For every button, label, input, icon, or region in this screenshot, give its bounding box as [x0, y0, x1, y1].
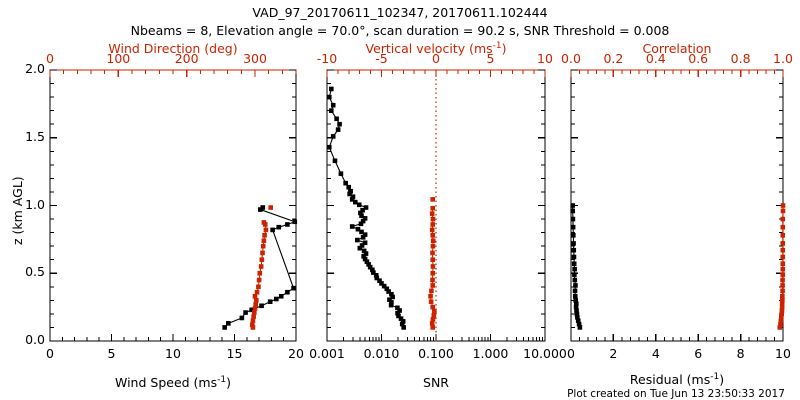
axis-tick-label: 0.2 — [603, 53, 623, 66]
series-marker — [431, 325, 435, 329]
axis-tick-label: 5 — [108, 348, 116, 361]
series-marker — [781, 209, 785, 213]
axis-tick-label: 15 — [227, 348, 243, 361]
series-marker — [336, 128, 340, 132]
series-marker — [430, 212, 434, 216]
axis-tick-label: 4 — [652, 348, 660, 361]
series-marker — [781, 262, 785, 266]
axis-tick-label: 0.4 — [646, 53, 666, 66]
axis-tick-label: 0.100 — [418, 348, 454, 361]
series-marker — [573, 267, 577, 271]
series-marker — [431, 197, 435, 201]
series-marker — [329, 109, 333, 113]
series-marker — [339, 172, 343, 176]
series-marker — [271, 228, 275, 232]
series-marker — [251, 319, 255, 323]
series-marker — [356, 227, 360, 231]
series-marker — [262, 239, 266, 243]
series-marker — [279, 294, 283, 298]
series-marker — [258, 271, 262, 275]
series-marker — [573, 294, 577, 298]
axis-tick-label: 1.0 — [773, 53, 793, 66]
series-marker — [781, 217, 785, 221]
series-marker — [573, 278, 577, 282]
series-marker — [331, 134, 335, 138]
series-marker — [781, 233, 785, 237]
series-marker — [244, 311, 248, 315]
series-marker — [572, 248, 576, 252]
series-marker — [226, 321, 230, 325]
series-marker — [327, 145, 331, 149]
axis-tick-label: 0.0 — [25, 334, 45, 347]
series-marker — [781, 241, 785, 245]
series-marker — [431, 239, 435, 243]
axis-tick-label: 2 — [609, 348, 617, 361]
axis-tick-label: 0.001 — [309, 348, 345, 361]
axis-tick-label: 200 — [175, 53, 199, 66]
axis-tick-label: 0 — [567, 348, 575, 361]
series-marker — [259, 264, 263, 268]
axis-tick-label: 0.8 — [731, 53, 751, 66]
series-marker — [331, 103, 335, 107]
series-marker — [357, 203, 361, 207]
series-marker — [431, 278, 435, 282]
axis-tick-label: -10 — [317, 53, 337, 66]
series-marker — [240, 316, 244, 320]
series-marker — [571, 217, 575, 221]
series-marker — [430, 228, 434, 232]
series-marker — [252, 311, 256, 315]
series-marker — [338, 122, 342, 126]
series-marker — [431, 244, 435, 248]
series-marker — [277, 225, 281, 229]
series-marker — [781, 225, 785, 229]
series-marker — [253, 306, 257, 310]
series-marker — [254, 298, 258, 302]
series-marker — [573, 283, 577, 287]
series-marker — [431, 206, 435, 210]
series-marker — [430, 321, 434, 325]
series-marker — [431, 305, 435, 309]
axis-tick-label: 5 — [487, 53, 495, 66]
series-marker — [431, 317, 435, 321]
axis-tick-label: 0 — [46, 348, 54, 361]
series-marker — [780, 294, 784, 298]
axis-tick-label: -5 — [375, 53, 387, 66]
series-marker — [260, 304, 264, 308]
series-marker — [349, 189, 353, 193]
axis-tick-label: 300 — [243, 53, 267, 66]
axis-tick-label: 0.010 — [364, 348, 400, 361]
series-marker — [781, 204, 785, 208]
axis-tick-label: 100 — [106, 53, 130, 66]
series-marker — [431, 233, 435, 237]
series-marker — [256, 285, 260, 289]
series-marker — [252, 315, 256, 319]
series-marker — [572, 262, 576, 266]
series-marker — [429, 289, 433, 293]
series-marker — [572, 241, 576, 245]
series-marker — [781, 267, 785, 271]
series-marker — [572, 255, 576, 259]
series-marker — [431, 271, 435, 275]
axis-tick-label: 0.6 — [688, 53, 708, 66]
series-marker — [268, 300, 272, 304]
axis-tick-label: 2.0 — [25, 63, 45, 76]
series-marker — [254, 302, 258, 306]
series-marker — [261, 251, 265, 255]
series-marker — [363, 241, 367, 245]
axis-tick-label: 0.0 — [561, 53, 581, 66]
series-marker — [293, 220, 297, 224]
series-marker — [431, 222, 435, 226]
series-marker — [431, 251, 435, 255]
axis-tick-label: 8 — [737, 348, 745, 361]
series-marker — [292, 286, 296, 290]
axis-tick-label: 10.000 — [523, 348, 567, 361]
series-marker — [431, 217, 435, 221]
axis-tick-label: 0.5 — [25, 266, 45, 279]
series-marker — [572, 273, 576, 277]
series-marker — [223, 325, 227, 329]
series-marker — [262, 220, 266, 224]
series-marker — [781, 289, 785, 293]
series-marker — [355, 238, 359, 242]
series-marker — [347, 185, 351, 189]
series-marker — [350, 225, 354, 229]
series-marker — [269, 206, 273, 210]
series-marker — [260, 258, 264, 262]
series-marker — [264, 228, 268, 232]
axis-tick-label: 1.000 — [473, 348, 509, 361]
series-marker — [261, 206, 265, 210]
series-marker — [261, 244, 265, 248]
series-marker — [571, 233, 575, 237]
axis-tick-label: 10 — [165, 348, 181, 361]
series-marker — [781, 278, 785, 282]
series-marker — [362, 249, 366, 253]
axis-tick-label: 0 — [432, 53, 440, 66]
series-marker — [571, 209, 575, 213]
axis-tick-label: 0 — [46, 53, 54, 66]
series-marker — [285, 222, 289, 226]
axis-tick-label: 6 — [694, 348, 702, 361]
series-marker — [333, 159, 337, 163]
series-marker — [395, 306, 399, 310]
series-marker — [431, 258, 435, 262]
series-marker — [432, 313, 436, 317]
series-marker — [781, 273, 785, 277]
series-marker — [431, 264, 435, 268]
series-marker — [255, 290, 259, 294]
series-marker — [344, 181, 348, 185]
series-marker — [780, 298, 784, 302]
axis-tick-label: 20 — [288, 348, 304, 361]
series-marker — [329, 87, 333, 91]
series-marker — [429, 294, 433, 298]
series-marker — [257, 278, 261, 282]
series-marker — [263, 233, 267, 237]
series-marker — [781, 248, 785, 252]
axis-tick-label: 10 — [537, 53, 553, 66]
series-marker — [571, 225, 575, 229]
series-marker — [253, 294, 257, 298]
series-marker — [432, 309, 436, 313]
series-marker — [573, 289, 577, 293]
series-marker — [274, 297, 278, 301]
series-marker — [574, 298, 578, 302]
series-marker — [571, 204, 575, 208]
axis-tick-label: 1.5 — [25, 131, 45, 144]
axis-tick-label: 1.0 — [25, 199, 45, 212]
series-marker — [429, 300, 433, 304]
series-marker — [335, 117, 339, 121]
figure-canvas: VAD_97_20170611_102347, 20170611.102444 … — [0, 0, 800, 400]
series-marker — [285, 290, 289, 294]
series-marker — [327, 95, 331, 99]
axis-tick-label: 10 — [775, 348, 791, 361]
series-marker — [250, 323, 254, 327]
series-marker — [364, 206, 368, 210]
series-marker — [781, 255, 785, 259]
series-marker — [431, 283, 435, 287]
series-marker — [781, 283, 785, 287]
